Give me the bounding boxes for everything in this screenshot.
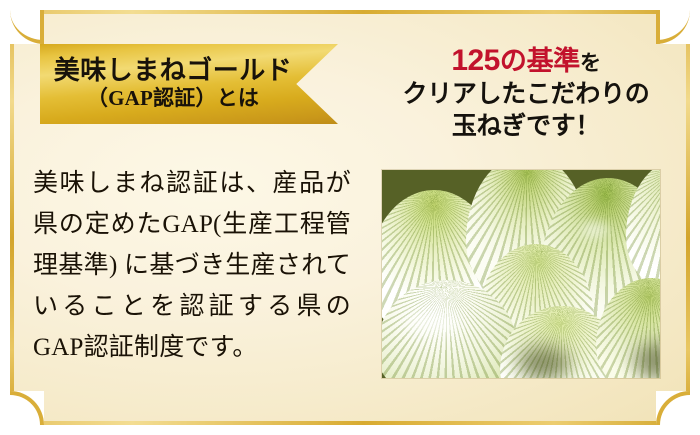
photo-shadow [518, 346, 570, 378]
headline-kanji-red: の基準 [500, 46, 580, 76]
headline-line-2: クリアしたこだわりの [402, 79, 649, 111]
frame-border-left [10, 10, 14, 425]
onion-photo [382, 170, 660, 378]
headline-block: 125の基準を クリアしたこだわりの 玉ねぎです！ [368, 32, 684, 152]
promo-banner: 美味しまねゴールド （GAP認証）とは 美味しまね認証は、産品が県の定めたGAP… [0, 0, 700, 435]
photo-highlight [580, 222, 610, 238]
gold-ribbon-banner: 美味しまねゴールド （GAP認証）とは [40, 44, 338, 124]
description-paragraph: 美味しまね認証は、産品が県の定めたGAP(生産工程管理基準) に基づき生産されて… [33, 163, 351, 368]
photo-highlight [404, 310, 462, 336]
headline-particle: を [580, 52, 601, 75]
frame-corner-bottom-left [10, 391, 44, 425]
frame-border-bottom [10, 421, 690, 425]
headline-line-1: 125の基準を [451, 42, 600, 80]
ribbon-title-line1: 美味しまねゴールド [54, 57, 293, 85]
onion-photo-image [382, 170, 660, 378]
frame-border-right [686, 10, 690, 425]
frame-corner-top-left [10, 10, 44, 44]
headline-line-3: 玉ねぎです！ [452, 111, 600, 143]
frame-corner-bottom-right [656, 391, 690, 425]
headline-number: 125 [451, 44, 500, 77]
frame-border-top [10, 10, 690, 14]
ribbon-title-line2: （GAP認証）とは [87, 86, 259, 111]
